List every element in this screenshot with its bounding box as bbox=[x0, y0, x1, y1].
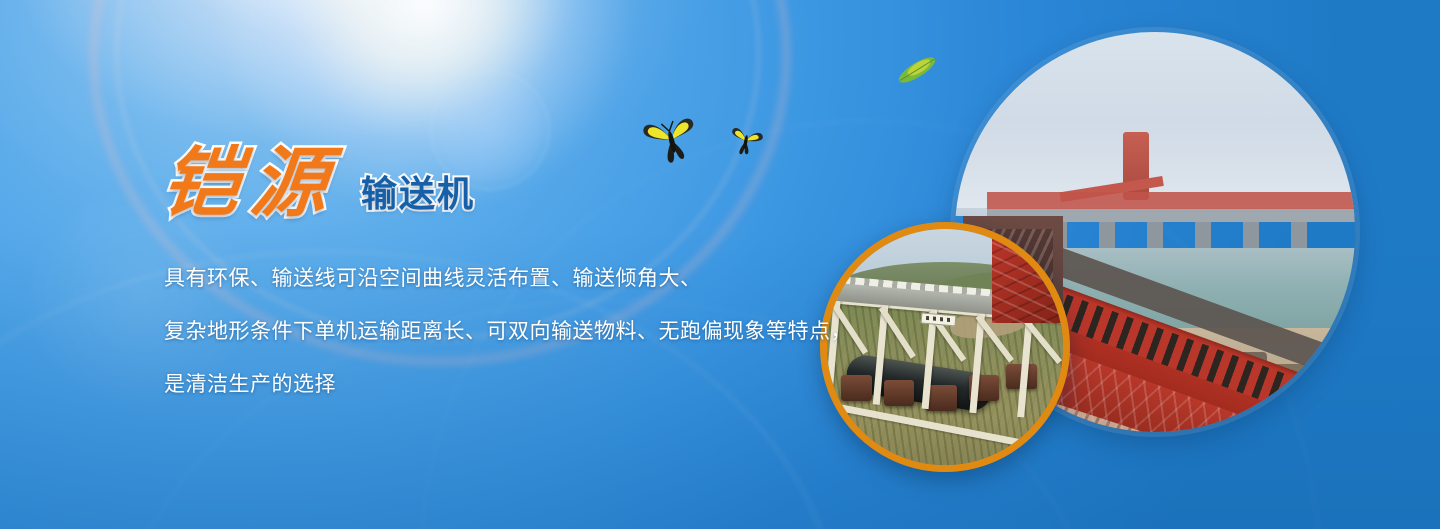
description-line-2: 复杂地形条件下单机运输距离长、可双向输送物料、无跑偏现象等特点， bbox=[164, 305, 924, 358]
description-line-3: 是清洁生产的选择 bbox=[164, 358, 924, 411]
leaf-icon bbox=[893, 48, 941, 92]
brand-product: 输送机 bbox=[361, 176, 475, 212]
description-text: 具有环保、输送线可沿空间曲线灵活布置、输送倾角大、 复杂地形条件下单机运输距离长… bbox=[164, 252, 924, 411]
hero-banner: 铠源 输送机 具有环保、输送线可沿空间曲线灵活布置、输送倾角大、 复杂地形条件下… bbox=[0, 0, 1440, 529]
brand-name: 铠源 bbox=[159, 146, 343, 222]
headline: 铠源 输送机 bbox=[163, 146, 475, 222]
description-line-1: 具有环保、输送线可沿空间曲线灵活布置、输送倾角大、 bbox=[164, 252, 924, 305]
butterfly-small-icon bbox=[728, 123, 764, 157]
butterfly-large-icon bbox=[640, 110, 702, 166]
